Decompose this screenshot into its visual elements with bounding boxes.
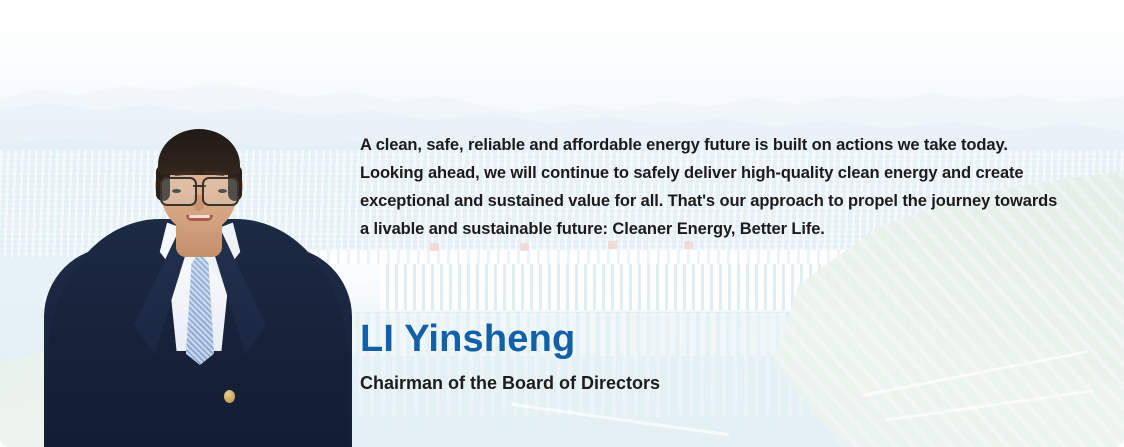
chairman-name: LI Yinsheng bbox=[360, 320, 575, 358]
executive-message-banner: A clean, safe, reliable and affordable e… bbox=[0, 0, 1124, 447]
eyeglass-lens-left bbox=[160, 177, 197, 206]
hair bbox=[158, 129, 240, 175]
chairman-portrait bbox=[48, 47, 348, 447]
chairman-quote-text: A clean, safe, reliable and affordable e… bbox=[360, 131, 1066, 243]
teeth bbox=[189, 215, 210, 218]
suit-button bbox=[224, 390, 235, 403]
eyeglass-lens-right bbox=[202, 177, 239, 206]
chairman-quote: A clean, safe, reliable and affordable e… bbox=[360, 131, 1066, 243]
chairman-role: Chairman of the Board of Directors bbox=[360, 374, 660, 392]
eyeglasses-icon bbox=[160, 177, 239, 203]
